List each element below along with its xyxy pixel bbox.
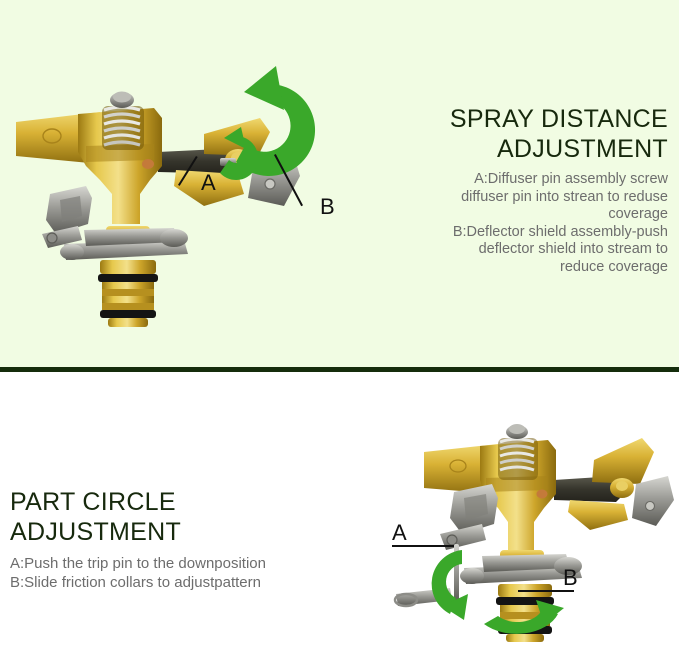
callout-label-a-top: A [201, 172, 216, 194]
top-body-line-6: reduce coverage [400, 259, 668, 277]
top-body-line-3: coverage [400, 206, 668, 224]
nozzle-end [506, 634, 544, 642]
body-rivet [142, 159, 154, 169]
stem-shoulder [100, 260, 156, 274]
top-body-line-1: A:Diffuser pin assembly screw [400, 171, 668, 189]
bottom-heading-line-1: PART CIRCLE [10, 487, 360, 517]
top-body-line-2: diffuser pin into strean to reduse [400, 189, 668, 207]
callout-label-b-top: B [320, 196, 335, 218]
body-rivet [537, 490, 548, 499]
threaded-stem [102, 282, 154, 310]
bottom-body: A:Push the trip pin to the downposition … [10, 554, 360, 592]
o-ring-lower [100, 310, 156, 318]
sprinkler-illustration-bottom [388, 408, 679, 649]
bottom-heading-line-2: ADJUSTMENT [10, 517, 360, 547]
bottom-body-line-1: A:Push the trip pin to the downposition [10, 554, 360, 573]
deflector-wing-upper [592, 438, 654, 484]
deflector-wing-lower [568, 500, 628, 530]
callout-label-a-bottom: A [392, 522, 407, 544]
top-body: A:Diffuser pin assembly screw diffuser p… [400, 171, 668, 276]
top-heading: SPRAY DISTANCE ADJUSTMENT [400, 104, 668, 164]
nozzle-end [108, 318, 148, 327]
bottom-text-block: PART CIRCLE ADJUSTMENT A:Push the trip p… [10, 487, 360, 592]
leader-line-b-bottom [518, 590, 574, 592]
o-ring-upper [98, 274, 158, 282]
top-body-line-5: deflector shield into stream to [400, 241, 668, 259]
diffuser-pin-screw [610, 478, 634, 498]
deflector-shield [632, 476, 674, 526]
leader-line-a-bottom [392, 545, 454, 547]
top-heading-line-1: SPRAY DISTANCE [400, 104, 668, 134]
trip-pin-arrow [432, 550, 468, 620]
bottom-heading: PART CIRCLE ADJUSTMENT [10, 487, 360, 547]
bottom-body-line-2: B:Slide friction collars to adjustpatter… [10, 573, 360, 592]
instruction-sheet: A B SPRAY DISTANCE ADJUSTMENT A:Diffuser… [0, 0, 679, 649]
top-text-block: SPRAY DISTANCE ADJUSTMENT A:Diffuser pin… [400, 104, 668, 276]
top-heading-line-2: ADJUSTMENT [400, 134, 668, 164]
top-body-line-4: B:Deflector shield assembly-push [400, 224, 668, 242]
callout-label-b-bottom: B [563, 567, 578, 589]
sprinkler-illustration-top [8, 48, 338, 338]
